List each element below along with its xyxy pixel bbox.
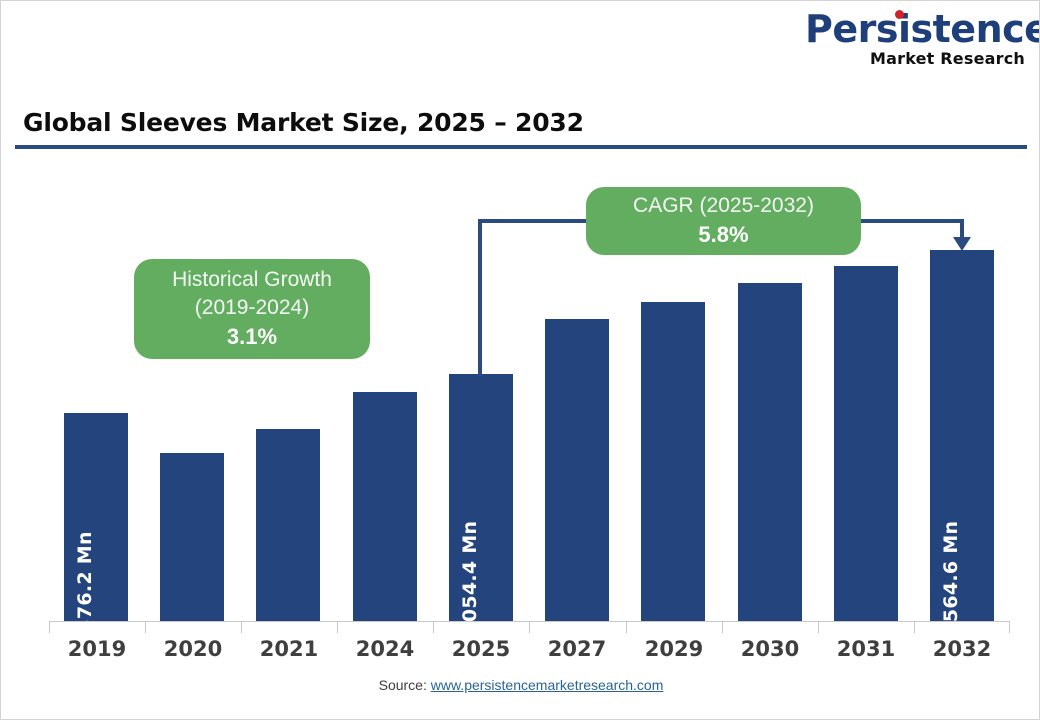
x-axis-tick — [145, 621, 146, 633]
bar-value-label-2032: US$ 1,564.6 Mn — [940, 521, 962, 694]
x-axis-label-2031: 2031 — [818, 637, 914, 661]
bar-2020[interactable] — [160, 453, 224, 621]
x-axis-tick — [722, 621, 723, 633]
x-axis-tick — [241, 621, 242, 633]
x-axis-label-2030: 2030 — [722, 637, 818, 661]
bar-2024[interactable] — [353, 392, 417, 621]
historical-growth-value: 3.1% — [227, 322, 277, 352]
historical-growth-title: Historical Growth — [172, 266, 332, 294]
bar-chart-plot: US$ 876.2 Mn US$ 1,054.4 Mn US$ 1,564.6 … — [1, 1, 1040, 720]
x-axis-label-2020: 2020 — [145, 637, 241, 661]
bar-2021[interactable] — [256, 429, 320, 621]
x-axis-tick — [529, 621, 530, 633]
cagr-connector-arrow-icon — [953, 237, 971, 251]
bar-2025[interactable]: US$ 1,054.4 Mn — [449, 374, 513, 621]
bar-2019[interactable]: US$ 876.2 Mn — [64, 413, 128, 621]
x-axis-tick — [49, 621, 50, 633]
bar-2029[interactable] — [641, 302, 705, 621]
x-axis-tick — [337, 621, 338, 633]
x-axis-label-2024: 2024 — [337, 637, 433, 661]
x-axis-tick — [433, 621, 434, 633]
bar-2031[interactable] — [834, 266, 898, 621]
x-axis-label-2021: 2021 — [241, 637, 337, 661]
cagr-callout: CAGR (2025-2032) 5.8% — [586, 187, 861, 255]
x-axis-label-2027: 2027 — [529, 637, 625, 661]
bar-value-label-2025: US$ 1,054.4 Mn — [459, 521, 481, 694]
x-axis-tick — [626, 621, 627, 633]
chart-page: Persistence Market Research Global Sleev… — [0, 0, 1040, 720]
x-axis-label-2025: 2025 — [433, 637, 529, 661]
bar-2030[interactable] — [738, 283, 802, 621]
bar-2032[interactable]: US$ 1,564.6 Mn — [930, 250, 994, 621]
cagr-connector-left-segment — [478, 219, 482, 376]
x-axis-tick — [1009, 621, 1010, 633]
x-axis-tick — [914, 621, 915, 633]
source-prefix-label: Source: — [379, 677, 431, 693]
source-url-link[interactable]: www.persistencemarketresearch.com — [431, 677, 664, 693]
cagr-value: 5.8% — [698, 220, 748, 250]
x-axis-label-2032: 2032 — [914, 637, 1010, 661]
x-axis-label-2029: 2029 — [626, 637, 722, 661]
x-axis-label-2019: 2019 — [49, 637, 145, 661]
x-axis-tick — [818, 621, 819, 633]
cagr-title: CAGR (2025-2032) — [633, 192, 814, 220]
historical-growth-callout: Historical Growth (2019-2024) 3.1% — [134, 259, 370, 359]
bar-2027[interactable] — [545, 319, 609, 621]
historical-growth-period: (2019-2024) — [195, 294, 309, 322]
source-line: Source: www.persistencemarketresearch.co… — [1, 677, 1040, 693]
